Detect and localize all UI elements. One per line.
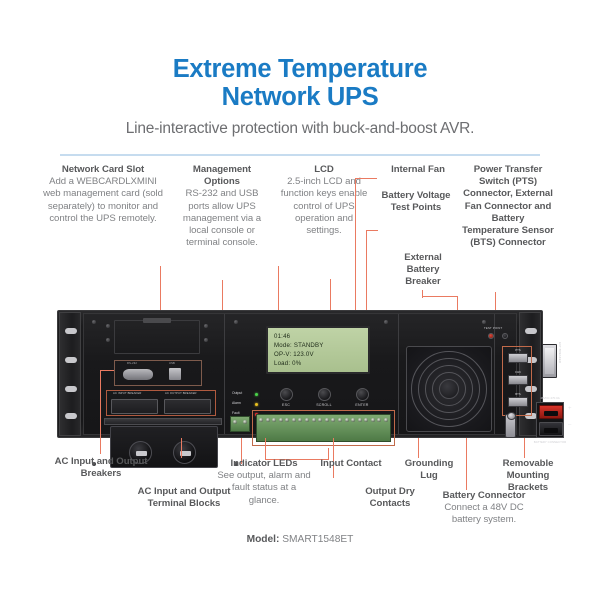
bracket-slot	[525, 328, 537, 334]
leader-ext-batt-breaker-stub	[422, 290, 423, 298]
ac-output-terminal[interactable]	[173, 441, 196, 464]
callout-external-battery-breaker-heading: External Battery Breaker	[392, 252, 454, 289]
leader-battery-connector	[466, 438, 467, 490]
callout-management-options: Management Options RS-232 and USB ports …	[176, 164, 268, 249]
battery-positive-terminal[interactable]	[539, 405, 563, 419]
pts-connector[interactable]	[508, 353, 528, 363]
ac-output-breaker[interactable]	[164, 399, 211, 414]
enter-button[interactable]	[356, 388, 369, 401]
led-row-alarm: Alarm	[232, 400, 254, 410]
callout-output-dry-contacts-heading: Output Dry Contacts	[350, 486, 430, 510]
model-label: Model:	[247, 534, 280, 545]
leader-ext-batt-breaker-v	[457, 296, 458, 310]
page-subtitle: Line-interactive protection with buck-an…	[0, 120, 600, 138]
leader-ac-terminal-blocks	[181, 438, 182, 458]
ups-device-image: RS-232 USB AC INPUT BREAKER AC OUTPUT BR…	[57, 310, 543, 438]
output-dry-contact-terminal[interactable]	[256, 414, 391, 442]
lcd-line-voltage: OP-V: 123.0V	[274, 350, 368, 359]
panel-seam	[494, 314, 495, 434]
leader-grounding-lug	[418, 438, 419, 458]
callout-management-options-body: RS-232 and USB ports allow UPS managemen…	[176, 188, 268, 249]
callout-network-card-slot: Network Card Slot Add a WEBCARDLXMINI we…	[42, 164, 164, 225]
callout-ac-breakers: AC Input and Output Breakers	[40, 456, 162, 480]
screw-icon	[106, 338, 110, 342]
dry-contact-holes	[259, 418, 388, 423]
scroll-button-label: SCROLL	[309, 403, 339, 407]
screw-icon	[204, 338, 208, 342]
output-led-icon	[255, 393, 258, 396]
polarity-plus-label: +	[568, 406, 572, 412]
callout-internal-fan-heading: Internal Fan	[382, 164, 454, 176]
battery-connector[interactable]	[536, 402, 564, 438]
esc-button-label: ESC	[271, 403, 301, 407]
callout-grounding-lug: Grounding Lug	[396, 458, 462, 482]
callout-battery-voltage-test-points: Battery Voltage Test Points	[378, 190, 454, 214]
network-card-slot[interactable]	[114, 320, 200, 354]
callout-network-card-slot-body: Add a WEBCARDLXMINI web management card …	[42, 176, 164, 225]
leader-network-card-slot	[160, 266, 161, 310]
battery-negative-terminal[interactable]	[539, 422, 563, 436]
callout-input-contact-heading: Input Contact	[320, 458, 382, 470]
leader-input-contact-v	[265, 438, 266, 460]
external-fan-connector[interactable]	[508, 375, 528, 385]
usb-port[interactable]	[169, 368, 181, 380]
screw-icon	[92, 320, 96, 324]
page-title: Extreme Temperature Network UPS	[0, 55, 600, 111]
leader-ext-batt-breaker-h	[422, 296, 458, 297]
callout-grounding-lug-heading: Grounding Lug	[396, 458, 462, 482]
leader-management-options	[222, 280, 223, 310]
fan-hub	[439, 379, 459, 399]
test-point-negative[interactable]	[502, 333, 508, 339]
model-line: Model: SMART1548ET	[0, 534, 600, 545]
panel-seam	[224, 314, 225, 434]
page-title-line1: Extreme Temperature	[173, 55, 428, 83]
leader-test-points-v	[366, 230, 367, 310]
screw-icon	[384, 320, 388, 324]
leader-power-transfer-switch	[495, 292, 496, 310]
alarm-led-icon	[255, 403, 258, 406]
bracket-slot	[65, 328, 77, 334]
leader-test-points-h	[366, 230, 378, 231]
led-alarm-label: Alarm	[232, 401, 241, 405]
header-divider	[60, 154, 540, 156]
rs232-port-label: RS-232	[127, 362, 137, 365]
product-diagram-page: Extreme Temperature Network UPS Line-int…	[0, 0, 600, 600]
pts-connector-label: PTS	[503, 348, 533, 352]
external-battery-breaker[interactable]	[542, 344, 557, 378]
enter-button-label: ENTER	[347, 403, 377, 407]
rs232-port[interactable]	[123, 369, 153, 380]
ups-rear-panel: RS-232 USB AC INPUT BREAKER AC OUTPUT BR…	[83, 313, 517, 435]
bts-connector-label: BTS	[503, 392, 533, 396]
callout-indicator-leds-body: See output, alarm and fault status at a …	[216, 470, 312, 507]
lcd-line-time: 01:46	[274, 332, 368, 341]
battery-connector-rating-label: 48VDC 270.0A	[530, 396, 570, 400]
ac-input-breaker-label: AC INPUT BREAKER	[113, 392, 142, 395]
callout-battery-connector: Battery Connector Connect a 48V DC batte…	[430, 490, 538, 527]
polarity-minus-label: –	[568, 422, 571, 428]
esc-button[interactable]	[280, 388, 293, 401]
breaker-rocker	[545, 348, 554, 374]
model-value: SMART1548ET	[282, 534, 353, 545]
grounding-lug[interactable]	[505, 414, 516, 438]
callout-lcd-heading: LCD	[278, 164, 370, 176]
callout-network-card-slot-heading: Network Card Slot	[42, 164, 164, 176]
ac-terminal-strip	[104, 418, 222, 425]
fan-connector-label: FAN	[503, 370, 533, 374]
ext-breaker-label: EXT BREAKER	[558, 342, 562, 363]
internal-fan	[406, 346, 492, 432]
callout-input-contact: Input Contact	[320, 458, 382, 470]
battery-connector-label: BATTERY CONNECTOR	[530, 440, 570, 444]
leader-lcd	[330, 279, 331, 310]
management-ports-group: RS-232 USB	[114, 360, 202, 386]
callout-indicator-leds: Indicator LEDs See output, alarm and fau…	[216, 458, 312, 507]
bracket-slot	[65, 386, 77, 392]
callout-battery-connector-body: Connect a 48V DC battery system.	[430, 502, 538, 526]
lcd-display: 01:46 Mode: STANDBY OP-V: 123.0V Load: 0…	[266, 326, 370, 374]
callout-management-options-heading: Management Options	[176, 164, 268, 188]
lcd-line-mode: Mode: STANDBY	[274, 341, 368, 350]
usb-port-label: USB	[169, 362, 175, 365]
bracket-slot	[65, 413, 77, 419]
terminal-slot	[544, 411, 558, 416]
mounting-bracket-left	[59, 312, 81, 436]
panel-seam	[398, 314, 399, 434]
bts-connector[interactable]	[508, 397, 528, 407]
callout-removable-mounting-brackets-heading: Removable Mounting Brackets	[492, 458, 564, 495]
leader-lcd-vertical	[278, 266, 279, 310]
terminal-slot	[544, 428, 558, 433]
led-fault-label: Fault	[232, 411, 240, 415]
ac-output-breaker-label: AC OUTPUT BREAKER	[165, 392, 197, 395]
test-point-label: TEST POINT	[484, 326, 502, 330]
bracket-slot	[65, 357, 77, 363]
screw-icon	[204, 324, 208, 328]
led-row-output: Output	[232, 390, 254, 400]
callout-battery-voltage-test-points-heading: Battery Voltage Test Points	[378, 190, 454, 214]
callout-output-dry-contacts: Output Dry Contacts	[350, 486, 430, 510]
test-point-positive[interactable]	[488, 333, 494, 339]
screw-icon	[106, 324, 110, 328]
callout-indicator-leds-heading: Indicator LEDs	[216, 458, 312, 470]
leader-removable-brackets	[524, 438, 525, 458]
callout-power-transfer-switch-heading: Power Transfer Switch (PTS) Connector, E…	[462, 164, 554, 249]
callout-power-transfer-switch: Power Transfer Switch (PTS) Connector, E…	[462, 164, 554, 249]
leader-internal-fan-v	[355, 178, 356, 310]
input-contact-holes	[233, 420, 247, 425]
screw-icon	[482, 320, 486, 324]
lcd-line-load: Load: 0%	[274, 359, 368, 368]
leader-internal-fan-h	[355, 178, 377, 179]
page-title-line2: Network UPS	[0, 83, 600, 111]
callout-ac-breakers-heading: AC Input and Output Breakers	[40, 456, 162, 480]
leader-ac-breakers-h	[100, 370, 114, 371]
lug-nut	[507, 412, 516, 420]
ac-breakers-group: AC INPUT BREAKER AC OUTPUT BREAKER	[106, 390, 216, 416]
callout-internal-fan: Internal Fan	[382, 164, 454, 176]
leader-ac-breakers-v	[100, 370, 101, 454]
pts-connector-group: PTS FAN BTS	[502, 346, 532, 416]
callout-external-battery-breaker: External Battery Breaker	[392, 252, 454, 289]
ac-input-breaker[interactable]	[111, 399, 158, 414]
output-dry-contacts-group	[252, 410, 395, 446]
scroll-button[interactable]	[318, 388, 331, 401]
callout-removable-mounting-brackets: Removable Mounting Brackets	[492, 458, 564, 495]
led-output-label: Output	[232, 391, 242, 395]
screw-icon	[234, 320, 238, 324]
card-slot-tab	[143, 318, 171, 323]
input-contact-terminal[interactable]	[230, 416, 250, 432]
